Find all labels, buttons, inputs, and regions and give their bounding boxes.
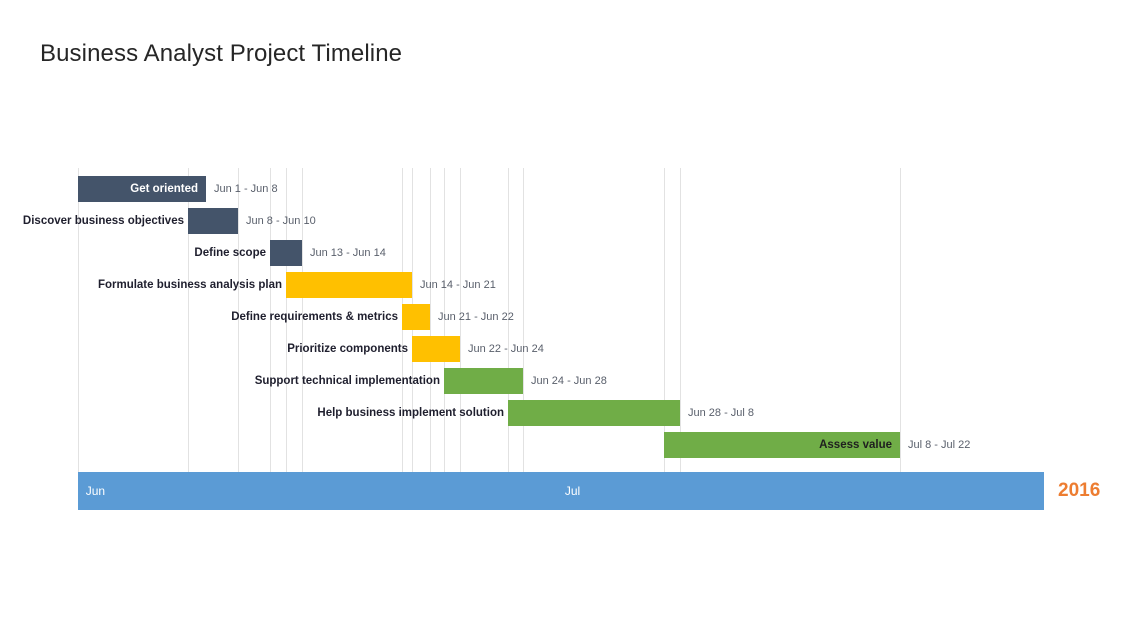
gantt-bar[interactable] <box>402 304 430 330</box>
date-range-label: Jun 13 - Jun 14 <box>310 240 386 266</box>
gantt-plot-area: Get orientedJun 1 - Jun 8Discover busine… <box>78 168 1044 472</box>
date-range-label: Jun 21 - Jun 22 <box>438 304 514 330</box>
task-label: Formulate business analysis plan <box>98 272 282 298</box>
gantt-row: Define scopeJun 13 - Jun 14 <box>78 240 1044 266</box>
task-label: Define scope <box>194 240 266 266</box>
gantt-bar[interactable] <box>444 368 523 394</box>
task-label: Discover business objectives <box>23 208 184 234</box>
gantt-bar[interactable] <box>270 240 302 266</box>
task-label: Assess value <box>664 432 892 458</box>
gantt-row: Assess valueJul 8 - Jul 22 <box>78 432 1044 458</box>
gantt-row: Prioritize componentsJun 22 - Jun 24 <box>78 336 1044 362</box>
task-label: Get oriented <box>78 176 198 202</box>
date-range-label: Jun 24 - Jun 28 <box>531 368 607 394</box>
task-label: Prioritize components <box>287 336 408 362</box>
gantt-bar[interactable] <box>286 272 412 298</box>
gantt-row: Get orientedJun 1 - Jun 8 <box>78 176 1044 202</box>
gantt-row: Support technical implementationJun 24 -… <box>78 368 1044 394</box>
gantt-bar[interactable]: Assess value <box>664 432 900 458</box>
gantt-bar[interactable] <box>508 400 680 426</box>
task-label: Help business implement solution <box>317 400 504 426</box>
gantt-bar[interactable] <box>412 336 460 362</box>
gantt-bar[interactable] <box>188 208 238 234</box>
gantt-bar[interactable]: Get oriented <box>78 176 206 202</box>
gantt-row: Define requirements & metricsJun 21 - Ju… <box>78 304 1044 330</box>
date-range-label: Jun 1 - Jun 8 <box>214 176 278 202</box>
gantt-row: Help business implement solutionJun 28 -… <box>78 400 1044 426</box>
date-range-label: Jun 14 - Jun 21 <box>420 272 496 298</box>
task-label: Define requirements & metrics <box>231 304 398 330</box>
date-range-label: Jun 22 - Jun 24 <box>468 336 544 362</box>
task-label: Support technical implementation <box>255 368 440 394</box>
date-range-label: Jun 28 - Jul 8 <box>688 400 754 426</box>
month-label: Jun <box>86 472 105 510</box>
month-axis-bar: JunJul <box>78 472 1044 510</box>
date-range-label: Jul 8 - Jul 22 <box>908 432 970 458</box>
gantt-row: Formulate business analysis planJun 14 -… <box>78 272 1044 298</box>
year-label: 2016 <box>1058 472 1100 510</box>
month-label: Jul <box>565 472 580 510</box>
date-range-label: Jun 8 - Jun 10 <box>246 208 316 234</box>
gantt-row: Discover business objectivesJun 8 - Jun … <box>78 208 1044 234</box>
page-title: Business Analyst Project Timeline <box>40 40 402 68</box>
